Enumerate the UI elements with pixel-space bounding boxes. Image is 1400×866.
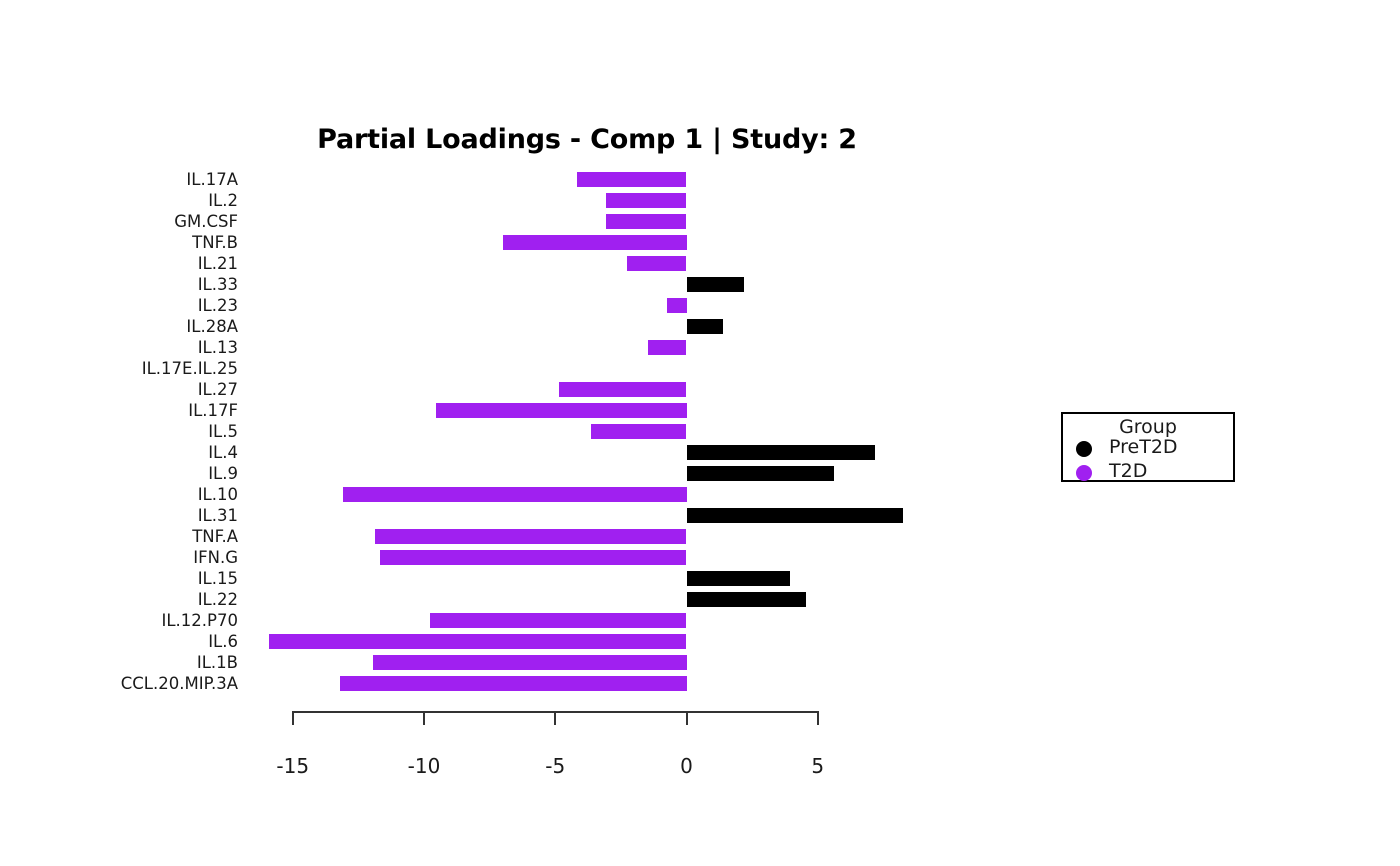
y-axis-tick-label: IL.6 [208,634,238,651]
y-axis-labels: IL.17AIL.2GM.CSFTNF.BIL.21IL.33IL.23IL.2… [0,0,238,866]
y-axis-tick-label: IFN.G [193,550,238,567]
x-axis-tick [554,711,556,725]
legend: Group PreT2DT2D [1061,412,1235,482]
y-axis-tick-label: IL.12.P70 [162,613,239,630]
y-axis-tick-label: IL.13 [198,340,238,357]
bar-TNF.B [503,235,687,250]
y-axis-tick-label: IL.15 [198,571,238,588]
y-axis-tick-label: IL.9 [208,466,238,483]
bar-IL.1B [373,655,687,670]
legend-title: Group [1063,416,1233,438]
y-axis-tick-label: IL.17E.IL.25 [142,361,238,378]
y-axis-tick-label: IL.22 [198,592,238,609]
bar-IL.5 [591,424,686,439]
bar-GM.CSF [606,214,687,229]
y-axis-tick-label: CCL.20.MIP.3A [121,676,238,693]
x-axis-tick-label: -5 [545,754,565,778]
plot-area: IL.17AIL.2GM.CSFTNF.BIL.21IL.33IL.23IL.2… [0,0,1000,866]
y-axis-tick-label: IL.1B [197,655,238,672]
y-axis-tick-label: IL.5 [208,424,238,441]
x-axis-tick-label: 0 [680,754,693,778]
bar-IL.4 [687,445,875,460]
legend-label: PreT2D [1109,436,1178,458]
y-axis-tick-label: GM.CSF [174,214,238,231]
bar-IL.10 [343,487,687,502]
bar-IL.9 [687,466,835,481]
y-axis-tick-label: IL.23 [198,298,238,315]
bar-IL.28A [687,319,723,334]
bar-IL.31 [687,508,904,523]
bar-IFN.G [380,550,687,565]
x-axis-tick [423,711,425,725]
bar-IL.17F [436,403,687,418]
bar-IL.12.P70 [430,613,686,628]
y-axis-tick-label: TNF.B [192,235,238,252]
x-axis-tick [292,711,294,725]
bar-IL.13 [648,340,686,355]
y-axis-tick-label: IL.2 [208,193,238,210]
y-axis-tick-label: IL.4 [208,445,238,462]
chart-canvas: Partial Loadings - Comp 1 | Study: 2 IL.… [0,0,1400,866]
bar-IL.6 [269,634,687,649]
bar-IL.2 [606,193,687,208]
bar-CCL.20.MIP.3A [340,676,687,691]
y-axis-tick-label: IL.17A [186,172,238,189]
y-axis-tick-label: IL.33 [198,277,238,294]
y-axis-tick-label: IL.27 [198,382,238,399]
bar-IL.17A [577,172,687,187]
legend-marker-circle-icon [1076,465,1092,481]
x-axis-tick-label: -10 [408,754,441,778]
bar-IL.23 [667,298,687,313]
legend-marker-circle-icon [1076,441,1092,457]
x-axis-tick [686,711,688,725]
y-axis-tick-label: IL.31 [198,508,238,525]
bar-TNF.A [375,529,687,544]
x-axis-tick-label: 5 [811,754,824,778]
bar-IL.33 [687,277,744,292]
y-axis-tick-label: IL.17F [188,403,238,420]
y-axis-tick-label: IL.10 [198,487,238,504]
x-axis-tick [817,711,819,725]
y-axis-tick-label: TNF.A [192,529,238,546]
x-axis-tick-label: -15 [276,754,309,778]
bar-IL.22 [687,592,806,607]
bar-IL.21 [627,256,687,271]
bar-IL.15 [687,571,790,586]
y-axis-tick-label: IL.28A [186,319,238,336]
y-axis-tick-label: IL.21 [198,256,238,273]
legend-label: T2D [1109,460,1147,482]
bar-IL.27 [559,382,687,397]
